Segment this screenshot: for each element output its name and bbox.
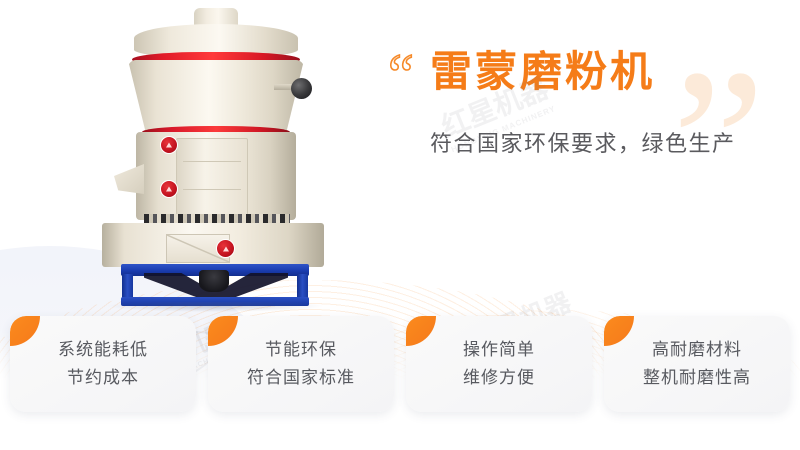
machine-shadow <box>108 302 322 312</box>
feature-card-line2: 符合国家标准 <box>247 364 355 392</box>
feature-card[interactable]: 高耐磨材料 整机耐磨性高 <box>604 316 790 412</box>
page-title: 雷蒙磨粉机 <box>430 38 655 99</box>
leaf-accent-icon <box>604 316 634 346</box>
banner-stage: ” “ 雷蒙磨粉机 符合国家环保要求，绿色生产 红星机器 HONGXING <box>0 0 800 450</box>
quote-open-icon: “ <box>388 46 412 104</box>
product-image-raymond-mill <box>88 8 338 300</box>
feature-card-line1: 操作简单 <box>463 336 535 364</box>
leaf-accent-icon <box>208 316 238 346</box>
feature-card-list: 系统能耗低 节约成本 节能环保 符合国家标准 操作简单 维修方便 高耐磨材料 整… <box>0 316 800 412</box>
leaf-accent-icon <box>406 316 436 346</box>
machine-handwheel <box>291 78 312 99</box>
brand-logo-icon <box>160 180 178 198</box>
feature-card-line1: 节能环保 <box>265 336 337 364</box>
brand-logo-icon <box>216 239 235 258</box>
machine-feed-spout <box>114 164 144 194</box>
machine-base-hub <box>199 270 229 292</box>
machine-upper-shell <box>128 60 304 132</box>
feature-card[interactable]: 系统能耗低 节约成本 <box>10 316 196 412</box>
feature-card-line2: 整机耐磨性高 <box>643 364 751 392</box>
machine-access-door <box>176 138 248 216</box>
feature-card-line2: 节约成本 <box>67 364 139 392</box>
page-subtitle: 符合国家环保要求，绿色生产 <box>430 126 736 158</box>
feature-card[interactable]: 节能环保 符合国家标准 <box>208 316 394 412</box>
feature-card[interactable]: 操作简单 维修方便 <box>406 316 592 412</box>
leaf-accent-icon <box>10 316 40 346</box>
feature-card-line2: 维修方便 <box>463 364 535 392</box>
brand-logo-icon <box>160 136 178 154</box>
feature-card-line1: 高耐磨材料 <box>652 336 742 364</box>
feature-card-line1: 系统能耗低 <box>58 336 148 364</box>
